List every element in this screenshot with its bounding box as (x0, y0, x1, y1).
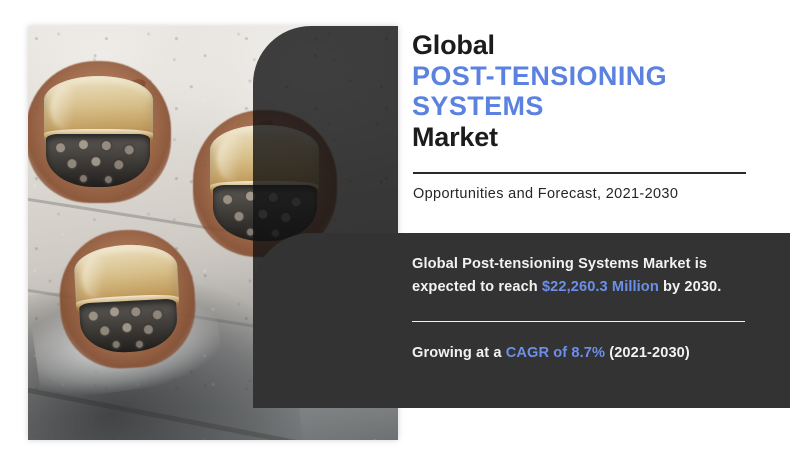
market-value-figure: $22,260.3 Million (542, 279, 659, 295)
stats-panel: Global Post-tensioning Systems Market is… (253, 233, 790, 408)
anchor-head (39, 76, 157, 192)
title-suffix: Market (412, 121, 757, 154)
market-value-suffix: by 2030. (659, 279, 722, 295)
anchor-face (79, 299, 179, 355)
market-value-statement: Global Post-tensioning Systems Market is… (412, 253, 752, 299)
stats-divider (412, 321, 745, 322)
stats-content: Global Post-tensioning Systems Market is… (412, 233, 790, 408)
cagr-figure: CAGR of 8.7% (506, 345, 605, 361)
title-subtitle: Opportunities and Forecast, 2021-2030 (413, 186, 678, 202)
anchor-head (70, 243, 187, 360)
anchor-wedges (79, 299, 179, 355)
anchor-face (46, 134, 150, 187)
page-title: Global Post-Tensioning Systems Market (412, 30, 757, 154)
title-main: Post-Tensioning Systems (412, 61, 757, 121)
cagr-statement: Growing at a CAGR of 8.7% (2021-2030) (412, 345, 772, 361)
title-divider (413, 172, 746, 174)
cagr-period: (2021-2030) (605, 345, 690, 361)
cagr-prefix: Growing at a (412, 345, 506, 361)
title-eyebrow: Global (412, 30, 757, 61)
anchor-wedges (46, 134, 150, 187)
